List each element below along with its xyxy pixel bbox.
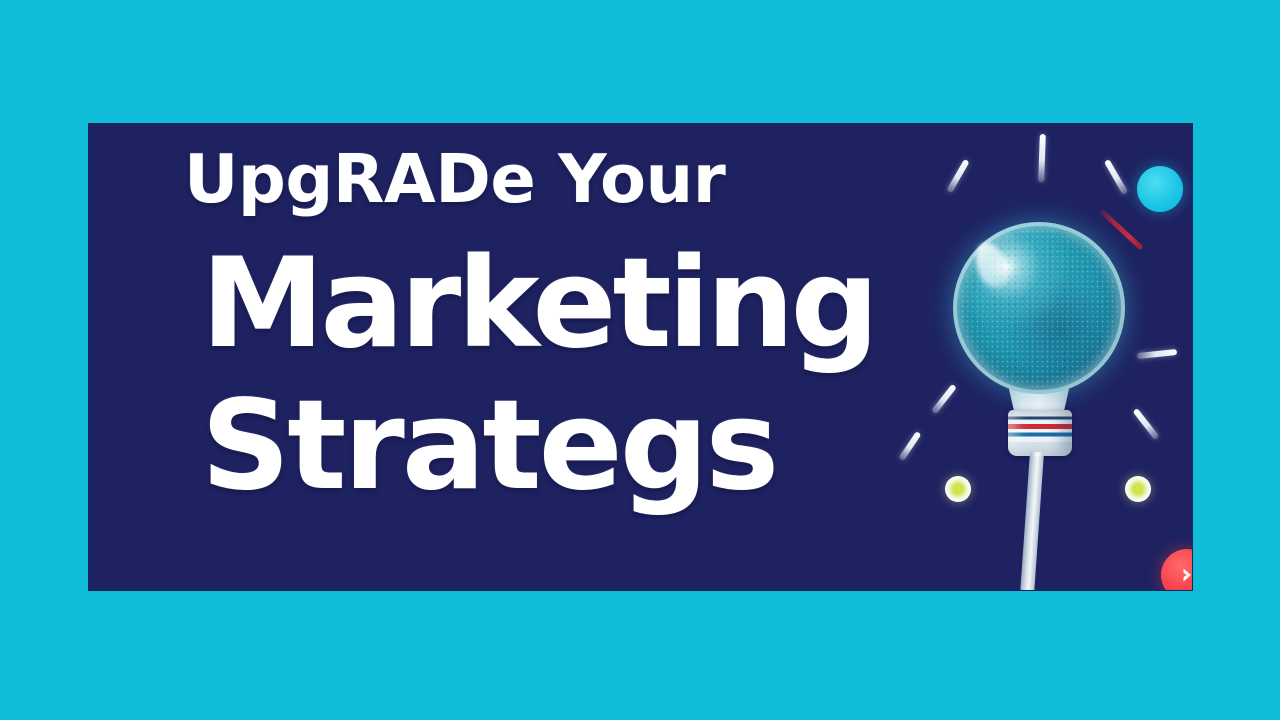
bulb-stem [1020, 452, 1044, 590]
glow-dot-icon [1125, 476, 1151, 502]
glow-dot-icon [945, 476, 971, 502]
light-ray-icon [1133, 408, 1160, 440]
light-bulb-illustration [849, 124, 1192, 590]
headline-line-2: Marketing [201, 232, 875, 376]
headline-line-1-text: UpgRADe Your [184, 140, 725, 218]
banner-canvas: UpgRADe Your Marketing Strategs [0, 0, 1280, 720]
banner-panel: UpgRADe Your Marketing Strategs [89, 124, 1192, 590]
light-ray-icon [931, 384, 957, 414]
headline-line-1: UpgRADe Your [184, 140, 725, 218]
play-button-badge[interactable] [1161, 549, 1192, 590]
light-ray-icon [899, 431, 922, 461]
light-ray-icon [946, 159, 969, 193]
light-ray-icon [1104, 159, 1128, 195]
bulb-screw-cap [1008, 410, 1072, 456]
headline-line-3: Strategs [201, 374, 776, 518]
cyan-dot-icon [1137, 166, 1183, 212]
light-ray-icon [1038, 134, 1046, 182]
chevron-right-icon [1176, 564, 1192, 586]
